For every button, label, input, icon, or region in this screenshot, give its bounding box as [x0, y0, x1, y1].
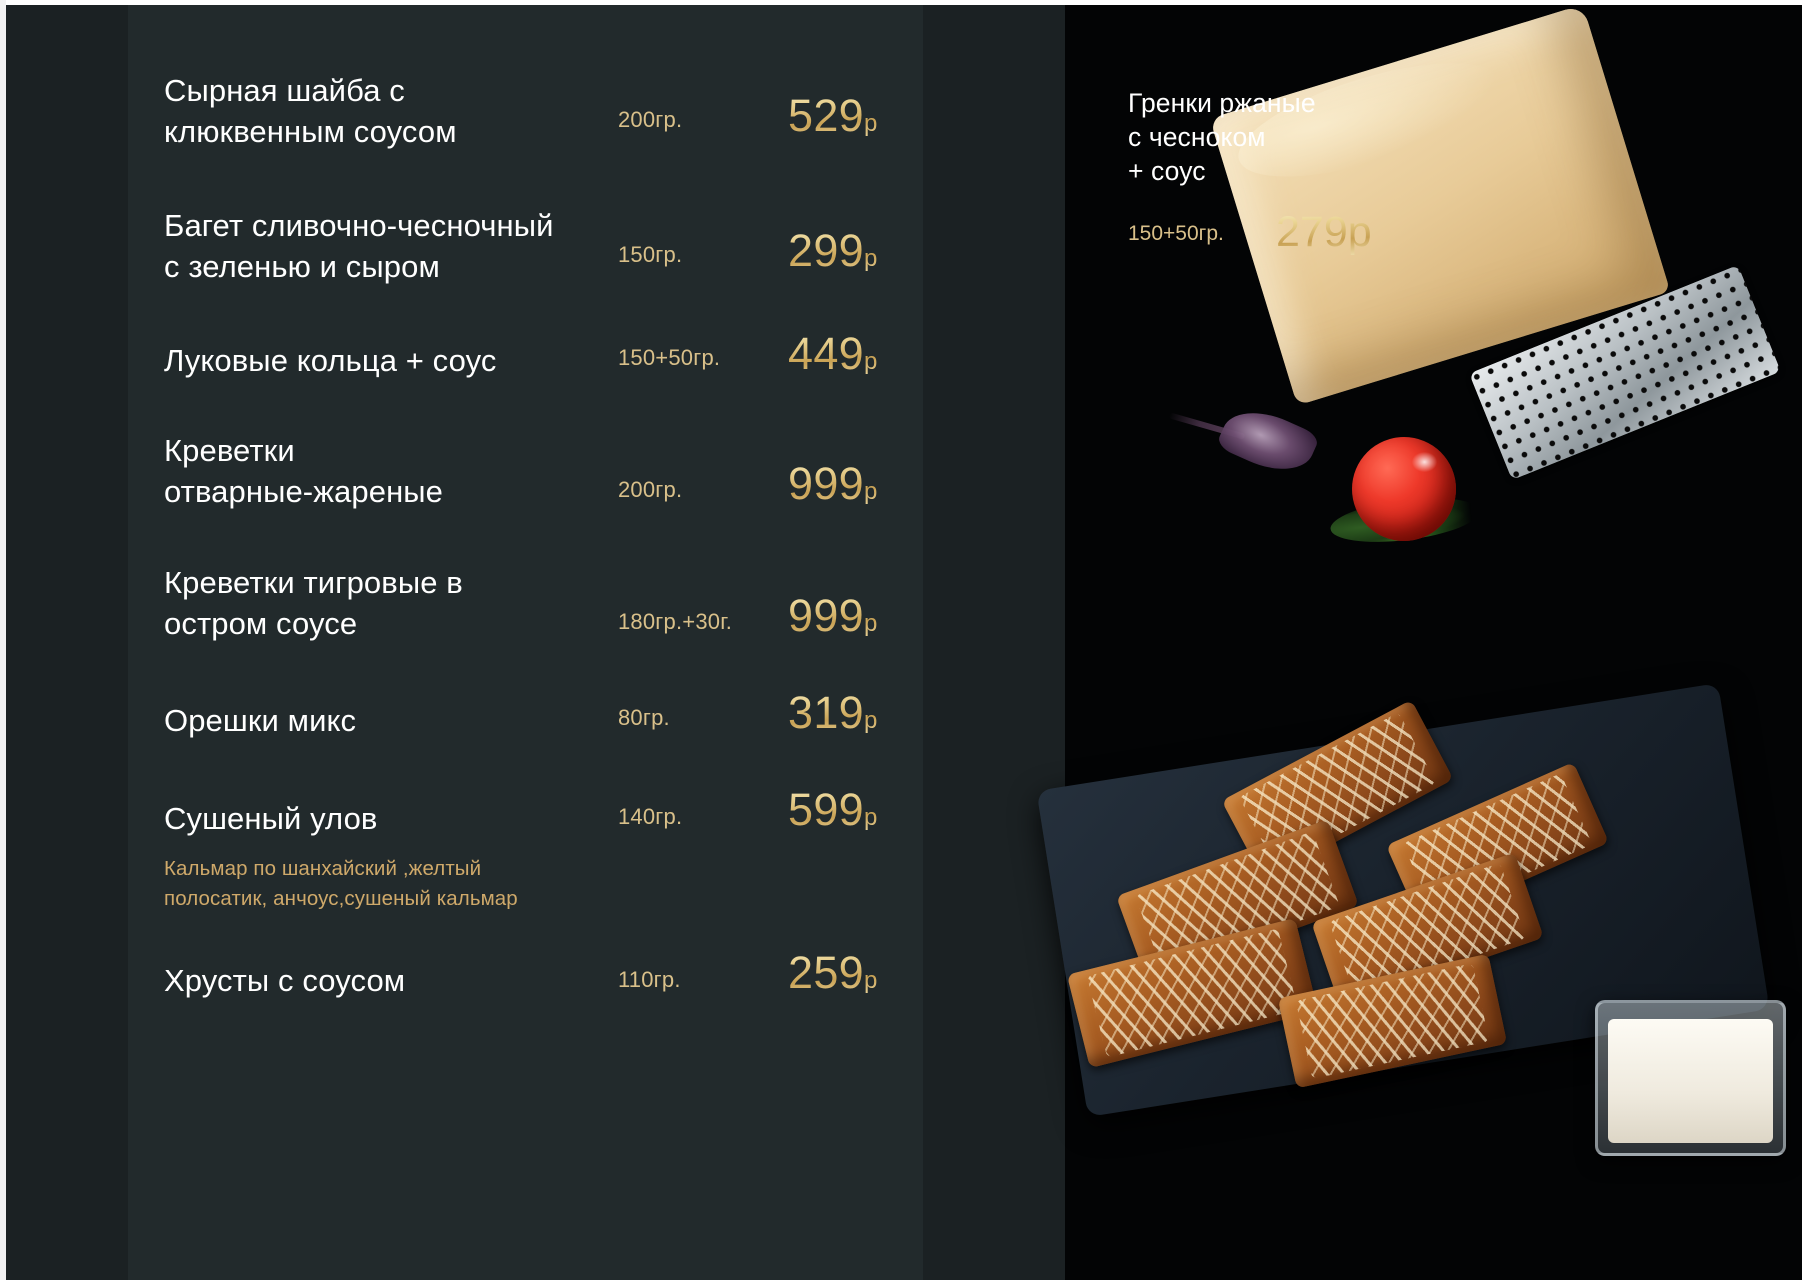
item-weight: 80гр. — [618, 705, 670, 731]
item-name-line: Сушеный улов — [164, 801, 378, 836]
item-price-currency: р — [864, 110, 877, 137]
item-price: 999р — [788, 458, 877, 510]
item-name-line: Креветки — [164, 433, 295, 468]
item-price-value: 599 — [788, 784, 864, 835]
feature-item-name: Гренки ржаные с чесноком + соус — [1128, 86, 1468, 188]
item-price-currency: р — [864, 804, 877, 831]
item-name: Багет сливочно-чесночныйс зеленью и сыро… — [164, 205, 664, 287]
item-price-currency: р — [864, 610, 877, 637]
feature-item-price: 279р — [1276, 208, 1372, 257]
item-name: Орешки микс — [164, 700, 634, 741]
item-price: 599р — [788, 784, 877, 836]
menu-page: Сырная шайба склюквенным соусом 200гр. 5… — [0, 0, 1802, 1288]
feature-item-price-currency: р — [1348, 208, 1372, 256]
item-price-value: 299 — [788, 225, 864, 276]
item-weight: 110гр. — [618, 967, 681, 993]
item-price-currency: р — [864, 967, 877, 994]
item-subtitle-line: Кальмар по шанхайский ,желтый — [164, 857, 481, 880]
item-price: 449р — [788, 328, 877, 380]
menu-items-list: Сырная шайба склюквенным соусом 200гр. 5… — [128, 0, 923, 1288]
feature-item-name-line: + соус — [1128, 156, 1206, 186]
feature-item-meta: 150+50гр. 279р — [1128, 208, 1468, 262]
item-price-currency: р — [864, 478, 877, 505]
item-price-value: 319 — [788, 687, 864, 738]
item-weight: 180гр.+30г. — [618, 609, 732, 635]
item-name-line: отварные-жареные — [164, 474, 443, 509]
item-name: Креветки тигровые востром соусе — [164, 562, 634, 644]
item-name-line: клюквенным соусом — [164, 114, 457, 149]
item-name: Креветкиотварные-жареные — [164, 430, 634, 512]
item-name-line: остром соусе — [164, 606, 357, 641]
center-divider-band — [923, 0, 1065, 1288]
page-bottom-edge — [0, 1280, 1802, 1288]
item-price: 529р — [788, 90, 877, 142]
item-name-line: Хрусты с соусом — [164, 963, 405, 998]
item-name-line: Сырная шайба с — [164, 73, 405, 108]
page-top-edge — [0, 0, 1802, 5]
item-name-line: с зеленью и сыром — [164, 249, 440, 284]
item-subtitle: Кальмар по шанхайский ,желтыйполосатик, … — [164, 854, 644, 914]
item-price-value: 999 — [788, 458, 864, 509]
item-price: 999р — [788, 590, 877, 642]
item-price: 259р — [788, 947, 877, 999]
item-weight: 150гр. — [618, 242, 682, 268]
feature-item-weight: 150+50гр. — [1128, 222, 1224, 246]
cherry-tomato-photo — [1352, 437, 1456, 541]
item-name-line: Луковые кольца + соус — [164, 343, 496, 378]
feature-item-price-value: 279 — [1276, 208, 1348, 256]
feature-item-name-line: с чесноком — [1128, 122, 1266, 152]
item-price-currency: р — [864, 707, 877, 734]
page-left-edge — [0, 0, 6, 1288]
left-edge-band — [0, 0, 128, 1288]
item-name: Луковые кольца + соус — [164, 340, 634, 381]
item-name-line: Орешки микс — [164, 703, 356, 738]
item-name: Сушеный улов — [164, 798, 634, 839]
feature-item-name-line: Гренки ржаные — [1128, 88, 1316, 118]
item-name: Сырная шайба склюквенным соусом — [164, 70, 634, 152]
item-price-value: 259 — [788, 947, 864, 998]
item-name: Хрусты с соусом — [164, 960, 634, 1001]
item-price-value: 529 — [788, 90, 864, 141]
white-sauce-dip-photo — [1595, 1000, 1786, 1156]
feature-menu-item[interactable]: Гренки ржаные с чесноком + соус 150+50гр… — [1128, 86, 1468, 262]
item-subtitle-line: полосатик, анчоус,сушеный кальмар — [164, 887, 518, 910]
item-weight: 150+50гр. — [618, 345, 720, 371]
item-weight: 200гр. — [618, 107, 682, 133]
item-price: 299р — [788, 225, 877, 277]
item-weight: 140гр. — [618, 804, 682, 830]
item-price-currency: р — [864, 348, 877, 375]
item-price-value: 449 — [788, 328, 864, 379]
item-weight: 200гр. — [618, 477, 682, 503]
item-name-line: Багет сливочно-чесночный — [164, 208, 554, 243]
item-name-line: Креветки тигровые в — [164, 565, 463, 600]
item-price-value: 999 — [788, 590, 864, 641]
item-price: 319р — [788, 687, 877, 739]
item-price-currency: р — [864, 245, 877, 272]
